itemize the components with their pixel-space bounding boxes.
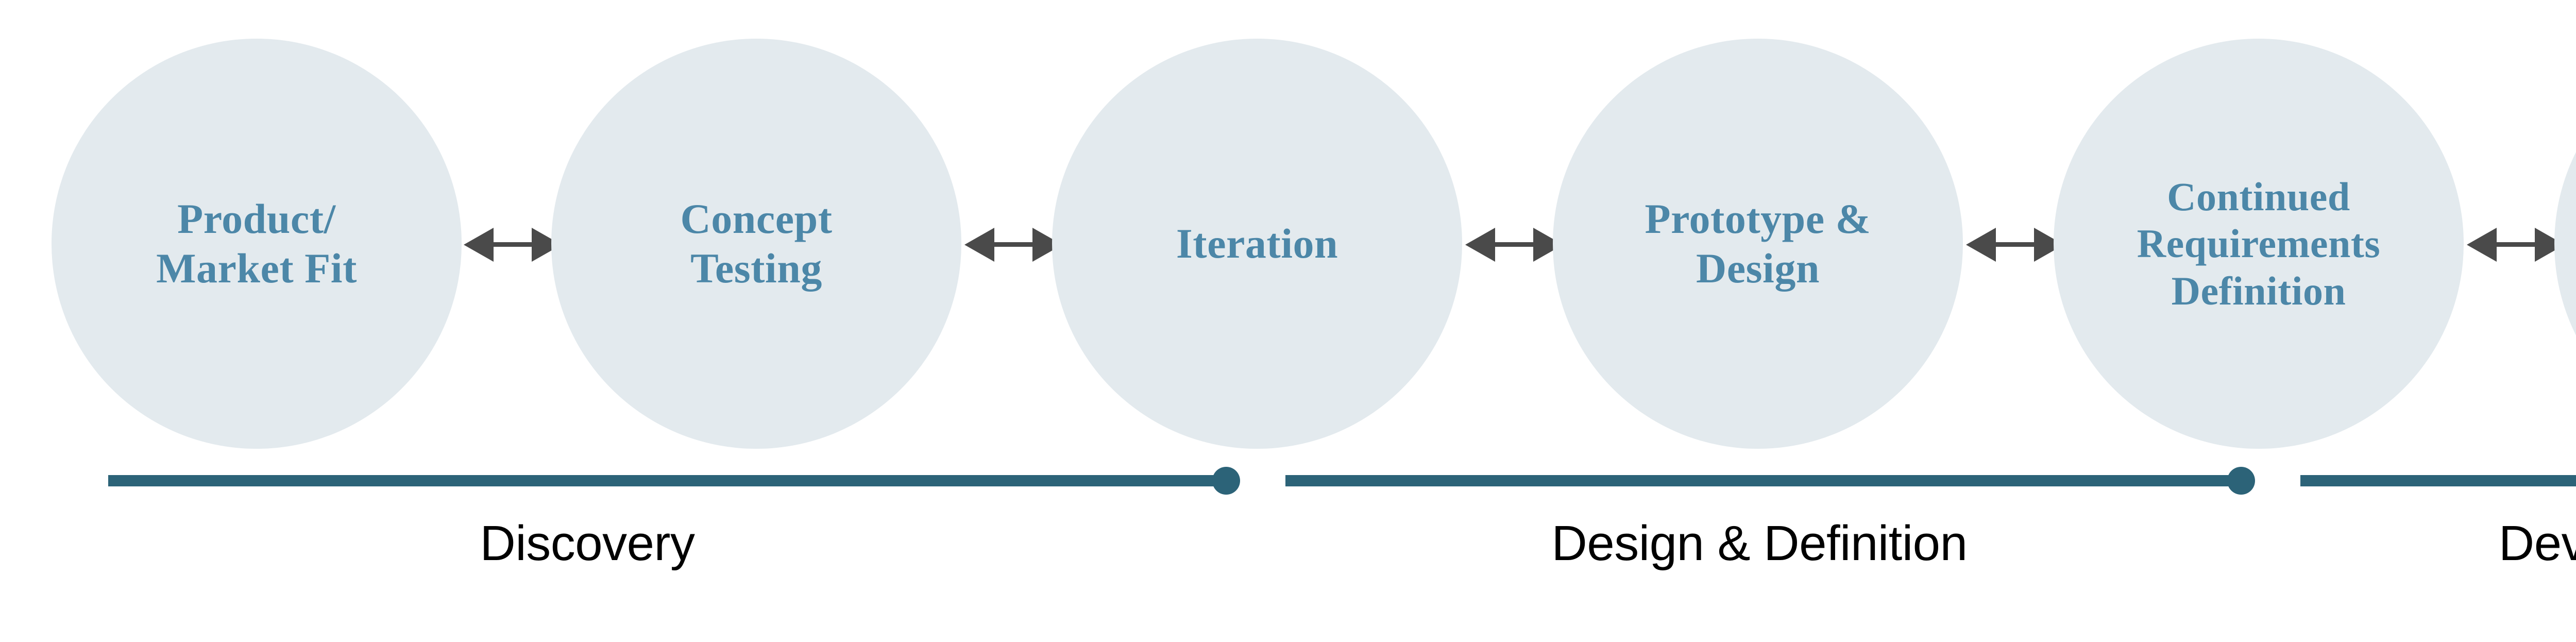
phase-timeline: Discovery Design & Definition Developmen… (0, 0, 2576, 642)
phase-label-discovery: Discovery (402, 515, 773, 572)
phase-bar-discovery[interactable] (108, 475, 1226, 486)
phase-bar-development[interactable] (2300, 475, 2576, 486)
phase-bar-design-definition[interactable] (1285, 475, 2241, 486)
phase-label-design-definition: Design & Definition (1450, 515, 2069, 572)
diagram-canvas: Product/ Market Fit Concept Testing Iter… (0, 0, 2576, 642)
phase-endpoint-dot-discovery (1212, 467, 1240, 495)
phase-endpoint-dot-design-definition (2227, 467, 2255, 495)
phase-label-development: Development (2391, 515, 2576, 572)
